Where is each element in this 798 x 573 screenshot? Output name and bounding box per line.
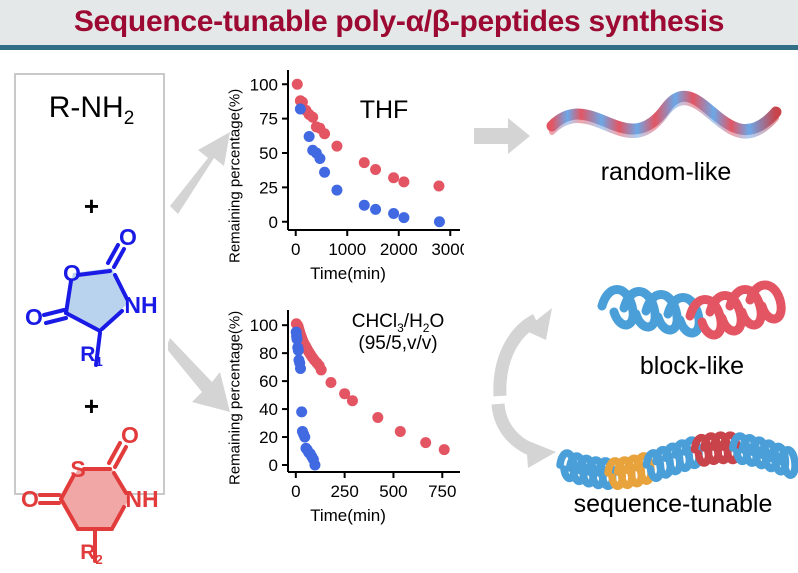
r2-substituent-label: R2: [16, 541, 167, 567]
data-point-nca: [307, 112, 318, 123]
amine-label: R-NH: [49, 91, 124, 124]
y-tick-label: 80: [259, 344, 278, 363]
data-point-nca: [331, 141, 342, 152]
nca-ring-oxygen: O: [63, 260, 81, 286]
data-point-nta: [304, 131, 315, 142]
helix-red-block: [690, 285, 781, 335]
x-tick-label: 3000: [431, 240, 464, 259]
data-point-nta: [398, 212, 409, 223]
nta-ring-sulfur: S: [70, 456, 85, 482]
r1-subscript: 1: [95, 354, 102, 369]
chart-chcl3-condition-line2: (95/5,v/v): [328, 334, 468, 354]
x-tick-label: 0: [291, 240, 300, 259]
y-tick-label: 100: [250, 75, 278, 94]
nca-carbonyl-d: [46, 318, 66, 323]
solvent-chcl: CHCl: [352, 311, 397, 332]
header-band: Sequence-tunable poly-α/β-peptides synth…: [0, 0, 798, 47]
nta-carbonyl-oxygen-left: O: [21, 486, 39, 512]
data-point-nca: [433, 181, 444, 192]
plus-sign-2: +: [16, 393, 167, 419]
nca-carbonyl-c: [44, 310, 64, 315]
chart-thf-condition-label: THF: [360, 96, 409, 124]
data-point-nta: [314, 153, 325, 164]
data-point-nca: [325, 377, 336, 388]
data-point-nca: [395, 426, 406, 437]
arrow-right-icon: [474, 118, 530, 154]
curved-arrow-down-head: [526, 440, 556, 468]
amine-formula: R-NH2: [16, 91, 167, 130]
data-point-nta: [293, 345, 304, 356]
solvent-o: O: [429, 311, 444, 332]
x-tick-label: 0: [291, 482, 300, 501]
data-point-nta: [359, 200, 370, 211]
data-point-nta: [319, 167, 330, 178]
x-tick-label: 2000: [380, 240, 418, 259]
r1-substituent-label: R1: [16, 343, 167, 369]
y-tick-label: 60: [259, 372, 278, 391]
y-tick-label: 0: [269, 213, 278, 232]
multi-block-helix-icon: [556, 424, 798, 494]
solvent-h: /H: [404, 311, 423, 332]
motif-random-like: [540, 78, 792, 166]
nta-carbonyl-oxygen-top: O: [121, 423, 139, 448]
y-tick-label: 40: [259, 400, 278, 419]
two-block-helix-icon: [592, 278, 792, 356]
data-point-nca: [319, 128, 330, 139]
helix-blue-block: [602, 290, 699, 333]
x-tick-label: 1000: [328, 240, 366, 259]
label-block-like: block-like: [592, 352, 792, 381]
x-tick-label: 500: [379, 482, 407, 501]
motif-block-like: [592, 278, 792, 356]
y-tick-label: 50: [259, 144, 278, 163]
nca-carbonyl-oxygen-left: O: [25, 304, 43, 330]
y-tick-label: 20: [259, 428, 278, 447]
y-tick-label: 25: [259, 178, 278, 197]
data-point-nca: [439, 444, 450, 455]
arrow-to-random-like: [472, 116, 534, 158]
plus-sign-1: +: [16, 193, 167, 219]
wavy-ribbon-icon: [540, 78, 792, 166]
chart-chcl3-condition-label: CHCl3/H2O (95/5,v/v): [328, 312, 468, 354]
data-point-nta: [434, 216, 445, 227]
data-point-nta: [299, 432, 310, 443]
nta-nh-group: NH: [125, 486, 158, 512]
x-tick-label: 750: [428, 482, 456, 501]
x-tick-label: 250: [330, 482, 358, 501]
data-point-nca: [398, 176, 409, 187]
r2-letter: R: [80, 541, 95, 564]
r2-subscript: 2: [95, 552, 102, 567]
chart-chcl3-xlabel: Time(min): [232, 506, 464, 526]
motif-sequence-tunable: [556, 424, 798, 494]
y-tick-label: 100: [250, 316, 278, 335]
chart-chcl3-condition-line1: CHCl3/H2O: [328, 312, 468, 334]
data-point-nca: [316, 364, 327, 375]
nca-nh-group: NH: [124, 292, 157, 318]
data-point-nta: [370, 204, 381, 215]
label-sequence-tunable: sequence-tunable: [548, 490, 798, 519]
data-point-nta: [331, 185, 342, 196]
chart-thf-xlabel: Time(min): [232, 264, 464, 284]
nca-carbonyl-oxygen-top: O: [119, 225, 137, 250]
monomer-panel: R-NH2 +: [14, 73, 165, 495]
data-point-nta: [296, 406, 307, 417]
amine-subscript: 2: [124, 108, 135, 129]
page-title: Sequence-tunable poly-α/β-peptides synth…: [0, 0, 798, 44]
data-point-nta: [309, 460, 320, 471]
arrow-up-right-icon: [170, 132, 230, 214]
y-tick-label: 75: [259, 110, 278, 129]
data-point-nta: [295, 104, 306, 115]
data-point-nca: [347, 395, 358, 406]
y-tick-label: 0: [269, 456, 278, 475]
chart-thf-plot: 02550751000100020003000 THF: [232, 62, 464, 262]
chart-chcl3: Remaining percentage(%) 0204060801000250…: [232, 300, 464, 537]
data-point-nca: [359, 157, 370, 168]
chart-thf: Remaining percentage(%) 0255075100010002…: [232, 62, 464, 290]
data-point-nca: [372, 412, 383, 423]
r1-letter: R: [80, 343, 95, 366]
chart-thf-ticks: 02550751000100020003000: [250, 75, 464, 259]
data-point-nta: [388, 208, 399, 219]
arrow-down-right-icon: [168, 338, 230, 412]
data-point-nca: [370, 164, 381, 175]
data-point-nca: [292, 79, 303, 90]
data-point-nta: [295, 363, 306, 374]
data-point-nca: [388, 172, 399, 183]
data-point-nca: [420, 437, 431, 448]
header-divider: [0, 45, 798, 50]
label-random-like: random-like: [540, 158, 792, 187]
